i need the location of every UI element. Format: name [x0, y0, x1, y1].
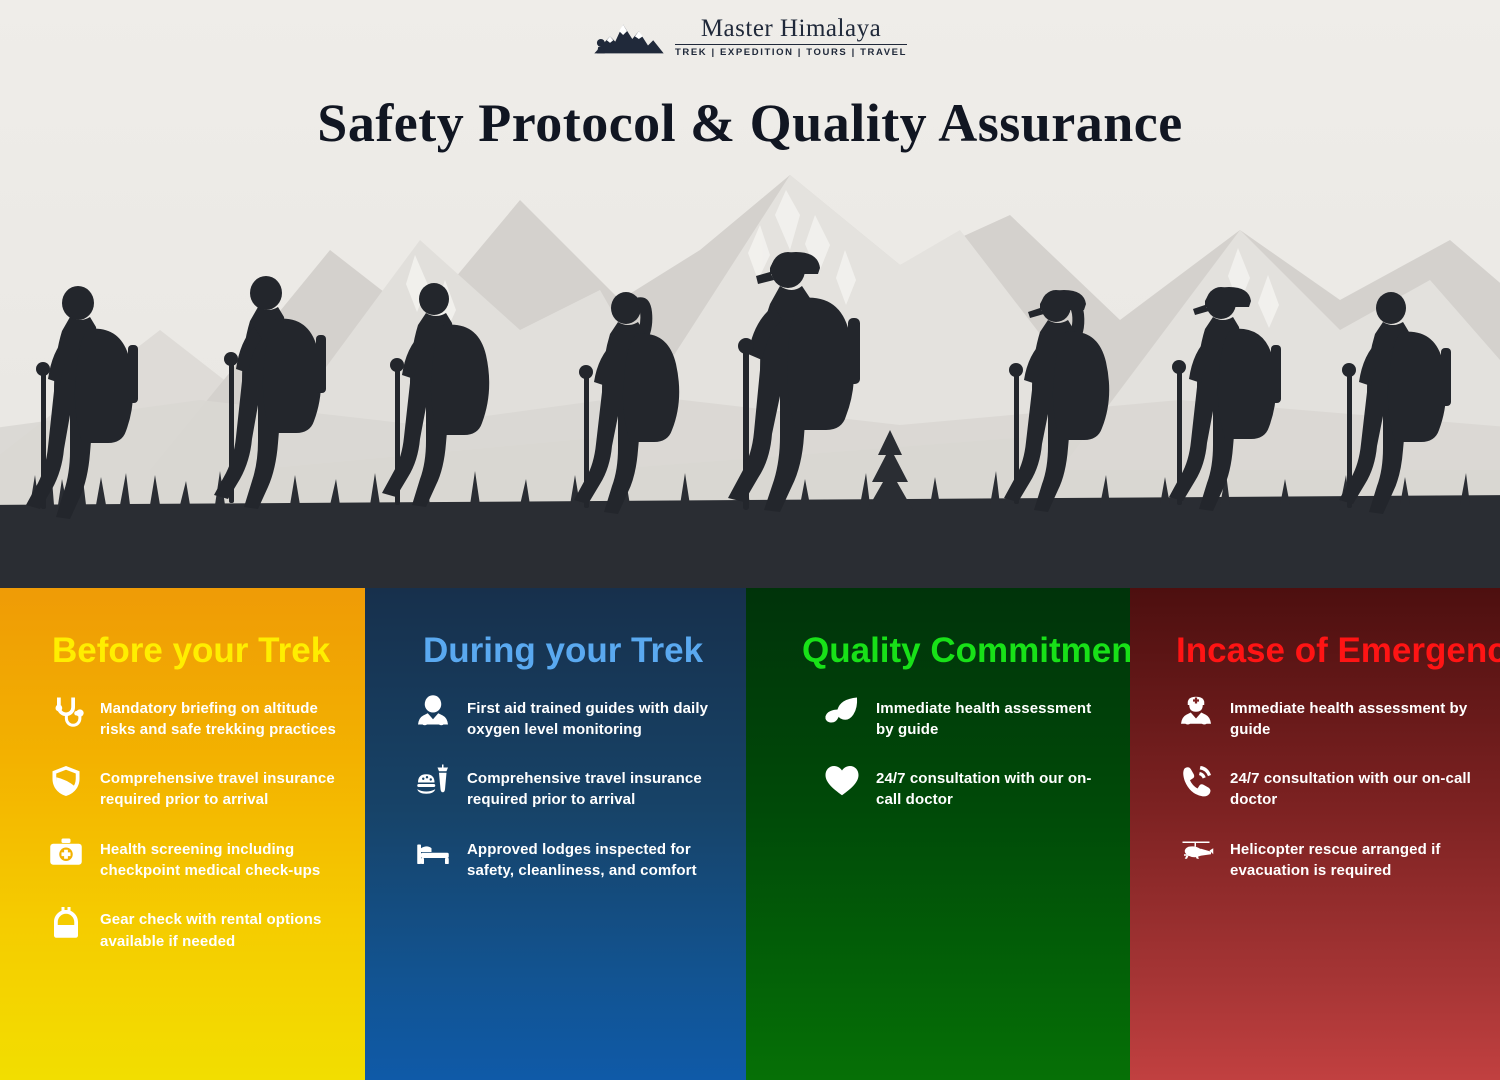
- list-item[interactable]: Immediate health assessment by guide: [1176, 693, 1474, 741]
- column-incase-of-emergency: Incase of Emergency Immediate health ass…: [1130, 588, 1500, 1080]
- list-item[interactable]: Helicopter rescue arranged if evacuation…: [1176, 834, 1474, 882]
- stethoscope-icon: [46, 691, 86, 731]
- leaf-icon: [822, 691, 862, 731]
- phone-call-icon: [1176, 761, 1216, 801]
- helicopter-icon: [1176, 832, 1216, 872]
- list-item-text: Health screening including checkpoint me…: [100, 834, 339, 882]
- nurse-icon: [1176, 691, 1216, 731]
- list-item[interactable]: Comprehensive travel insurance required …: [413, 763, 720, 811]
- list-item-text: Comprehensive travel insurance required …: [100, 763, 339, 811]
- list-item-text: Immediate health assessment by guide: [1230, 693, 1474, 741]
- shield-icon: [46, 761, 86, 801]
- list-item-text: Gear check with rental options available…: [100, 904, 339, 952]
- infographic-page: Master Himalaya TREK | EXPEDITION | TOUR…: [0, 0, 1500, 1080]
- list-item[interactable]: Comprehensive travel insurance required …: [46, 763, 339, 811]
- first-aid-kit-icon: [46, 832, 86, 872]
- bed-icon: [413, 832, 453, 872]
- list-item-text: Immediate health assessment by guide: [876, 693, 1104, 741]
- column-items-incase-of-emergency: Immediate health assessment by guide 24/…: [1156, 693, 1474, 882]
- column-items-during-your-trek: First aid trained guides with daily oxyg…: [391, 693, 720, 882]
- page-title: Safety Protocol & Quality Assurance: [0, 92, 1500, 154]
- list-item[interactable]: Health screening including checkpoint me…: [46, 834, 339, 882]
- header-banner: Master Himalaya TREK | EXPEDITION | TOUR…: [0, 0, 1500, 588]
- brand-name: Master Himalaya: [701, 16, 881, 42]
- protocol-columns: Before your Trek Mandatory briefing on a…: [0, 588, 1500, 1080]
- list-item[interactable]: 24/7 consultation with our on-call docto…: [1176, 763, 1474, 811]
- logo-divider: [675, 44, 907, 45]
- column-title-quality-commitment: Quality Commitment: [802, 632, 1104, 671]
- column-items-before-your-trek: Mandatory briefing on altitude risks and…: [26, 693, 339, 952]
- column-before-your-trek: Before your Trek Mandatory briefing on a…: [0, 588, 365, 1080]
- mountain-logo-icon: [593, 14, 665, 60]
- column-during-your-trek: During your Trek First aid trained guide…: [365, 588, 746, 1080]
- column-title-during-your-trek: During your Trek: [423, 632, 720, 671]
- list-item-text: First aid trained guides with daily oxyg…: [467, 693, 712, 741]
- list-item-text: 24/7 consultation with our on-call docto…: [1230, 763, 1474, 811]
- meal-icon: [413, 761, 453, 801]
- list-item-text: Comprehensive travel insurance required …: [467, 763, 712, 811]
- list-item[interactable]: Immediate health assessment by guide: [822, 693, 1104, 741]
- brand-logo[interactable]: Master Himalaya TREK | EXPEDITION | TOUR…: [0, 14, 1500, 60]
- list-item-text: Helicopter rescue arranged if evacuation…: [1230, 834, 1474, 882]
- heart-icon: [822, 761, 862, 801]
- list-item-text: 24/7 consultation with our on-call docto…: [876, 763, 1104, 811]
- hiker-silhouettes-mountain-scene: [0, 0, 1500, 588]
- doctor-icon: [413, 691, 453, 731]
- column-title-before-your-trek: Before your Trek: [52, 632, 339, 671]
- list-item-text: Approved lodges inspected for safety, cl…: [467, 834, 712, 882]
- list-item[interactable]: Approved lodges inspected for safety, cl…: [413, 834, 720, 882]
- column-quality-commitment: Quality Commitment Immediate health asse…: [746, 588, 1130, 1080]
- column-title-incase-of-emergency: Incase of Emergency: [1176, 632, 1474, 671]
- brand-tagline: TREK | EXPEDITION | TOURS | TRAVEL: [675, 47, 907, 58]
- list-item[interactable]: Gear check with rental options available…: [46, 904, 339, 952]
- list-item-text: Mandatory briefing on altitude risks and…: [100, 693, 339, 741]
- column-items-quality-commitment: Immediate health assessment by guide 24/…: [772, 693, 1104, 811]
- backpack-icon: [46, 902, 86, 942]
- list-item[interactable]: 24/7 consultation with our on-call docto…: [822, 763, 1104, 811]
- list-item[interactable]: First aid trained guides with daily oxyg…: [413, 693, 720, 741]
- list-item[interactable]: Mandatory briefing on altitude risks and…: [46, 693, 339, 741]
